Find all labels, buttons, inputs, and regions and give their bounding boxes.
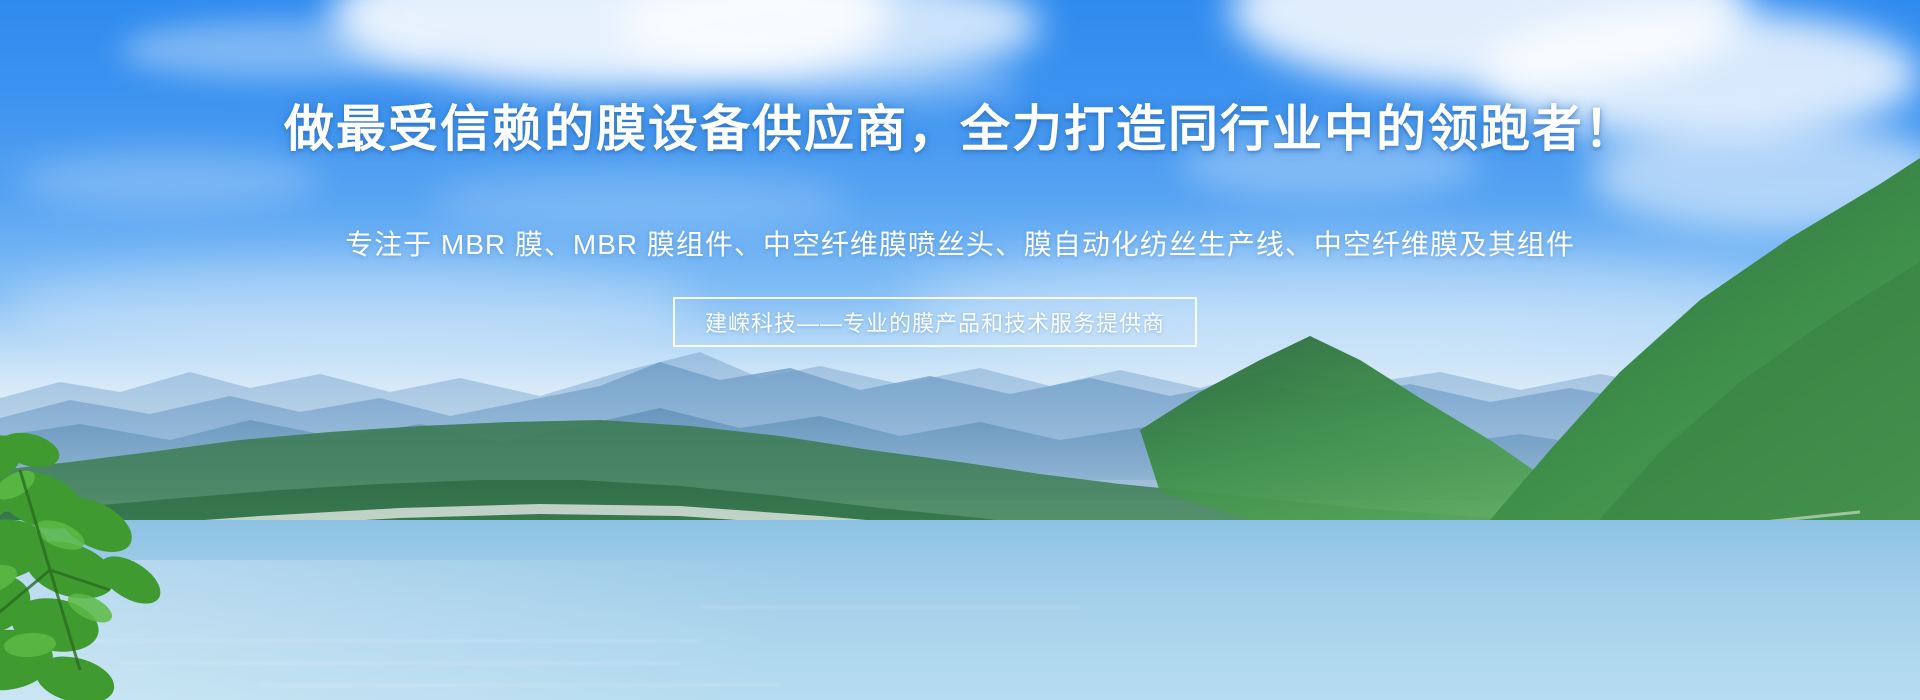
tagline-box: 建嵘科技——专业的膜产品和技术服务提供商 — [673, 297, 1197, 347]
hero-banner: 做最受信赖的膜设备供应商，全力打造同行业中的领跑者！ 专注于 MBR 膜、MBR… — [0, 0, 1920, 700]
banner-headline: 做最受信赖的膜设备供应商，全力打造同行业中的领跑者！ — [0, 100, 1920, 158]
banner-subheadline: 专注于 MBR 膜、MBR 膜组件、中空纤维膜喷丝头、膜自动化纺丝生产线、中空纤… — [0, 226, 1920, 264]
banner-content: 做最受信赖的膜设备供应商，全力打造同行业中的领跑者！ 专注于 MBR 膜、MBR… — [0, 0, 1920, 700]
tagline-text: 建嵘科技——专业的膜产品和技术服务提供商 — [705, 306, 1165, 338]
